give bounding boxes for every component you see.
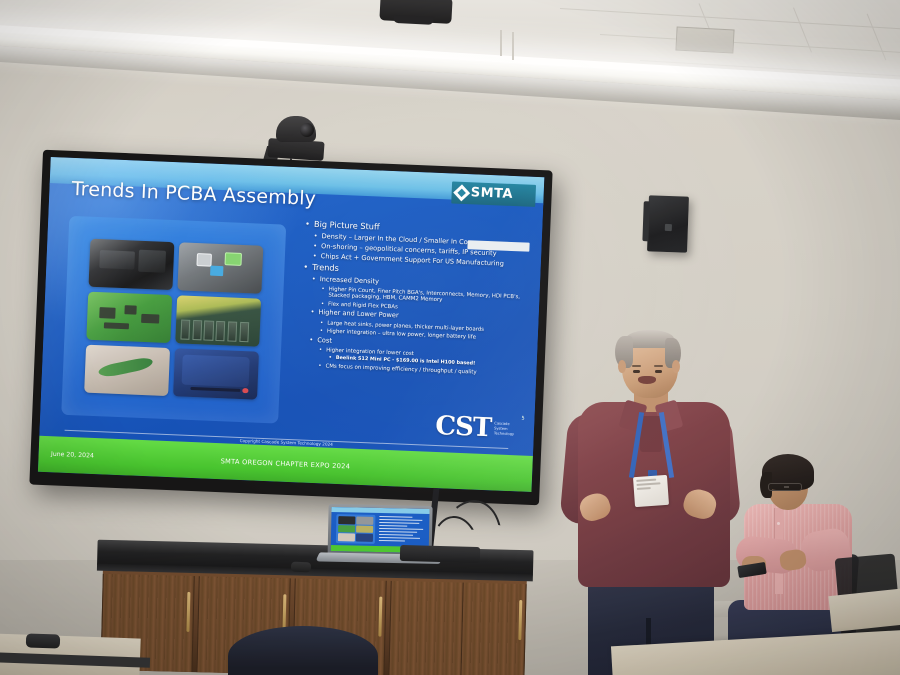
presenter-brow xyxy=(632,365,641,367)
bullet-text: Cost xyxy=(317,337,332,345)
bullet-marker-icon: • xyxy=(320,320,323,327)
slide-page-number: 5 xyxy=(521,415,524,421)
desk-puck-device xyxy=(291,562,311,573)
presenter-name-badge xyxy=(633,475,669,507)
bullet-marker-icon: • xyxy=(313,253,317,261)
presentation-slide: Trends In PCBA Assembly SMTA xyxy=(38,157,545,492)
wall-mounted-tv[interactable]: Trends In PCBA Assembly SMTA xyxy=(29,150,552,506)
speaker-driver-icon xyxy=(665,224,672,231)
laptop-slide-bullets xyxy=(379,516,427,544)
slide-footer-date: June 20, 2024 xyxy=(51,451,94,460)
cabinet-handle[interactable] xyxy=(186,592,190,632)
laptop-slide-top-band xyxy=(331,507,429,514)
presenter-eye xyxy=(633,370,640,373)
bullet-marker-icon: • xyxy=(310,309,314,317)
bullet-marker-icon: • xyxy=(303,263,308,273)
bullet-text: Higher and Lower Power xyxy=(318,310,399,321)
cabinet-handle[interactable] xyxy=(378,597,382,637)
bullet-marker-icon: • xyxy=(313,243,317,251)
bullet-marker-icon: • xyxy=(312,276,316,284)
shirt-button xyxy=(777,522,780,525)
presenter-shirt-placket xyxy=(640,416,662,452)
slide-footer-title: SMTA OREGON CHAPTER EXPO 2024 xyxy=(220,457,350,470)
presenter-brow xyxy=(654,365,663,367)
slide-bullet-list: •Big Picture Stuff •Density – Larger In … xyxy=(296,219,532,447)
smta-diamond-icon xyxy=(453,184,470,201)
wall-speaker xyxy=(647,195,689,252)
bullet-marker-icon: • xyxy=(318,363,321,370)
ceiling-vent xyxy=(675,26,734,53)
cst-logo-mark: CST xyxy=(435,413,492,441)
pcb-image-silver-motherboard xyxy=(177,243,263,294)
cst-logo: CST Cascade System Technology xyxy=(435,413,515,442)
slide-image-panel xyxy=(61,216,286,423)
bullet-marker-icon: • xyxy=(313,232,317,240)
presenter-ear xyxy=(672,360,680,373)
ceiling-mounted-device xyxy=(379,0,452,24)
remote-control[interactable] xyxy=(26,633,60,648)
pcb-image-flexible-pcb-in-hand xyxy=(84,345,170,396)
pcb-image-green-pcb-assembly xyxy=(86,292,172,343)
pcb-image-memory-module-board xyxy=(175,296,261,347)
bullet-marker-icon: • xyxy=(320,328,323,335)
cabinet-handle[interactable] xyxy=(518,600,522,640)
pcb-image-black-server-module xyxy=(88,239,174,290)
eyeglasses-icon xyxy=(768,483,802,491)
bullet-marker-icon: • xyxy=(329,356,332,362)
light-suspension-stem xyxy=(512,32,514,60)
bullet-marker-icon: • xyxy=(305,219,310,229)
presenter-ear xyxy=(618,360,626,373)
presenter-eye xyxy=(655,370,662,373)
bullet-marker-icon: • xyxy=(321,286,325,299)
presenter-mouth xyxy=(638,376,656,384)
camera-lens-icon xyxy=(300,123,314,137)
bullet-text: Big Picture Stuff xyxy=(314,220,380,232)
bullet-text: Increased Density xyxy=(320,276,380,286)
cabinet-door[interactable] xyxy=(460,583,526,675)
pcb-image-blue-mini-pc xyxy=(173,349,259,400)
smta-logo-text: SMTA xyxy=(470,186,513,203)
light-suspension-stem xyxy=(500,30,502,56)
foreground-table-right-rear xyxy=(828,588,900,632)
presentation-photo-scene: Trends In PCBA Assembly SMTA xyxy=(0,0,900,675)
smta-logo: SMTA xyxy=(451,181,536,206)
bullet-marker-icon: • xyxy=(309,336,313,344)
cst-logo-subtitle: Cascade System Technology xyxy=(494,421,515,436)
bullet-text: Trends xyxy=(312,263,339,274)
bullet-marker-icon: • xyxy=(321,301,324,308)
tv-screen[interactable]: Trends In PCBA Assembly SMTA xyxy=(38,157,545,492)
laptop-slide-image-panel xyxy=(336,514,376,544)
presenter-person xyxy=(560,318,740,675)
camera-head xyxy=(276,116,316,142)
bullet-marker-icon: • xyxy=(319,347,322,354)
